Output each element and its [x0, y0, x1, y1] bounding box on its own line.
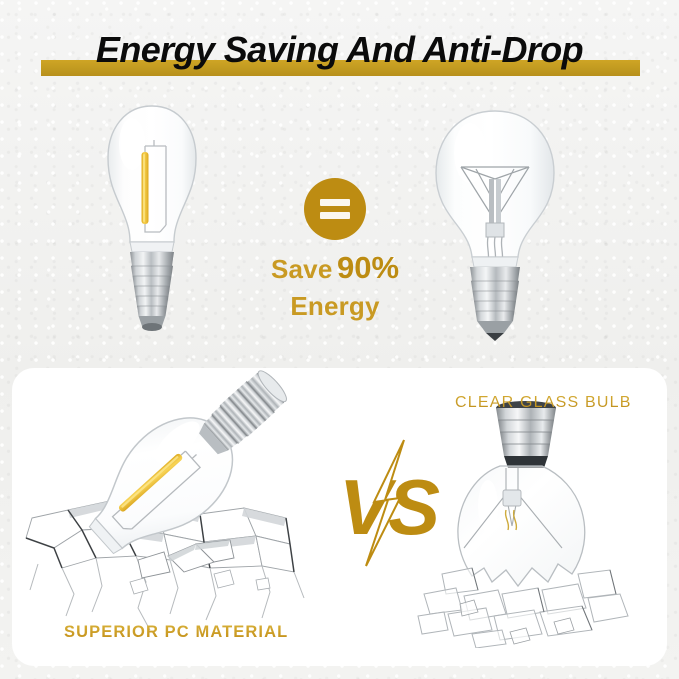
caption-line-1: Save 90%	[235, 252, 435, 290]
incandescent-bulb	[420, 105, 570, 345]
superior-pc-material-label: SUPERIOR PC MATERIAL	[64, 623, 288, 642]
versus-mark: VS	[330, 438, 450, 568]
save-energy-caption: Save 90% Energy	[235, 252, 435, 327]
product-comparison-infographic: Energy Saving And Anti-Drop	[0, 0, 679, 679]
equals-badge	[304, 178, 366, 240]
caption-line-2: Energy	[235, 290, 435, 327]
clear-glass-bulb-label: CLEAR GLASS BULB	[455, 394, 632, 412]
caption-percent-value: 90%	[337, 250, 399, 285]
led-filament-bulb	[92, 100, 212, 340]
page-title: Energy Saving And Anti-Drop	[0, 24, 679, 76]
caption-energy-word: Energy	[290, 291, 379, 321]
caption-save-word: Save	[271, 254, 333, 284]
header: Energy Saving And Anti-Drop	[0, 24, 679, 90]
equals-icon-bar-bottom	[320, 212, 350, 219]
broken-bulb-body	[458, 401, 585, 586]
pc-bulb-impact-scene	[18, 368, 338, 638]
versus-panel: VS SUPERIOR PC MATERIAL CLEAR GLASS BULB	[12, 368, 667, 666]
equals-icon-bar-top	[320, 199, 350, 206]
